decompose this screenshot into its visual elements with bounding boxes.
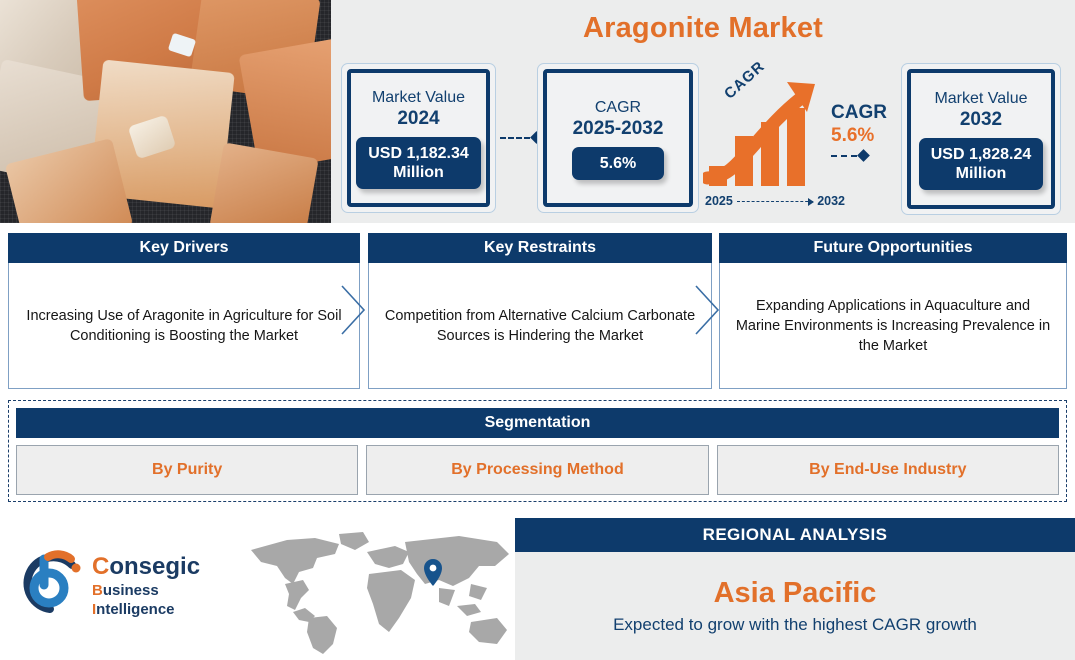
segmentation-section: Segmentation By Purity By Processing Met… — [8, 400, 1067, 502]
cagr-card-inner: CAGR 2025-2032 5.6% — [543, 69, 693, 207]
panel-key-drivers-title: Key Drivers — [8, 233, 360, 263]
cagr-period: 2025-2032 — [573, 118, 664, 139]
panel-key-drivers: Key Drivers Increasing Use of Aragonite … — [8, 233, 360, 389]
market-value-2032-label-text: Market Value — [934, 90, 1027, 107]
growth-chart-icon: CAGR CAGR 5.6% 2025 2032 — [703, 78, 888, 208]
market-value-2032-label: Market Value 2032 — [934, 88, 1027, 130]
market-value-2024-label: Market Value 2024 — [372, 87, 465, 129]
world-map-svg — [243, 532, 515, 654]
connector-2-dashes — [831, 155, 857, 157]
logo-tagline-ntelligence: ntelligence — [96, 601, 174, 618]
market-value-2024-card: Market Value 2024 USD 1,182.34 Million — [341, 63, 496, 213]
segmentation-row: By Purity By Processing Method By End-Us… — [16, 445, 1059, 495]
panel-future-opportunities: Future Opportunities Expanding Applicati… — [719, 233, 1067, 389]
market-value-2032-pill: USD 1,828.24 Million — [919, 138, 1044, 190]
regional-analysis-title: REGIONAL ANALYSIS — [515, 518, 1075, 552]
connector-2-diamond — [857, 149, 870, 162]
growth-year-axis: 2025 2032 — [705, 194, 845, 208]
market-value-2024-unit: Million — [393, 164, 444, 181]
connector-2 — [831, 151, 868, 160]
segment-by-end-use-industry[interactable]: By End-Use Industry — [717, 445, 1059, 495]
consegic-logo-icon — [14, 545, 86, 615]
growth-side-labels: CAGR 5.6% — [831, 102, 887, 147]
regional-analysis-body: Asia Pacific Expected to grow with the h… — [515, 552, 1075, 660]
logo-wordmark: Consegic Business Intelligence — [92, 553, 244, 619]
market-value-2024-card-inner: Market Value 2024 USD 1,182.34 Million — [347, 69, 490, 207]
panel-future-opportunities-title: Future Opportunities — [719, 233, 1067, 263]
logo-name-rest: onsegic — [109, 553, 200, 580]
cagr-label-text: CAGR — [595, 99, 641, 116]
logo-tagline-usiness: usiness — [103, 582, 159, 599]
segment-by-purity[interactable]: By Purity — [16, 445, 358, 495]
growth-end-year: 2032 — [817, 194, 845, 208]
company-logo: Consegic Business Intelligence — [14, 545, 244, 617]
cagr-value: 5.6% — [600, 155, 636, 172]
regional-analysis-section: REGIONAL ANALYSIS Asia Pacific Expected … — [515, 518, 1075, 660]
panel-key-restraints: Key Restraints Competition from Alternat… — [368, 233, 712, 389]
market-value-2024-year: 2024 — [372, 108, 465, 129]
market-value-2032-card-inner: Market Value 2032 USD 1,828.24 Million — [907, 69, 1055, 209]
panel-future-opportunities-text: Expanding Applications in Aquaculture an… — [719, 263, 1067, 389]
page-title: Aragonite Market — [331, 12, 1075, 45]
market-value-2032-unit: Million — [956, 165, 1007, 182]
aragonite-photo — [0, 0, 331, 223]
market-value-2032-card: Market Value 2032 USD 1,828.24 Million — [901, 63, 1061, 215]
world-map-continents — [251, 532, 509, 654]
chevron-arrow-1 — [340, 284, 366, 336]
panel-key-restraints-title: Key Restraints — [368, 233, 712, 263]
top-section: Aragonite Market Market Value 2024 USD 1… — [0, 0, 1075, 223]
market-value-2024-amount: USD 1,182.34 — [368, 145, 469, 162]
logo-company-name: Consegic — [92, 553, 244, 581]
panel-key-drivers-text: Increasing Use of Aragonite in Agricultu… — [8, 263, 360, 389]
logo-tagline-b: B — [92, 582, 103, 599]
cagr-label: CAGR 2025-2032 — [573, 97, 664, 139]
location-pin-dot — [430, 565, 437, 572]
growth-axis-arrow — [737, 201, 813, 202]
bar-4 — [787, 108, 805, 186]
market-value-2032-amount: USD 1,828.24 — [931, 146, 1032, 163]
panel-key-restraints-text: Competition from Alternative Calcium Car… — [368, 263, 712, 389]
connector-1-dashes — [500, 137, 530, 139]
connector-1 — [500, 133, 541, 142]
growth-start-year: 2025 — [705, 194, 733, 208]
regional-analysis-region: Asia Pacific — [714, 574, 877, 612]
segmentation-title: Segmentation — [16, 408, 1059, 438]
market-value-2024-label-text: Market Value — [372, 89, 465, 106]
market-value-2024-pill: USD 1,182.34 Million — [356, 137, 481, 189]
cagr-card: CAGR 2025-2032 5.6% — [537, 63, 699, 213]
logo-tagline: Business Intelligence — [92, 581, 244, 619]
market-value-2032-year: 2032 — [934, 109, 1027, 130]
logo-name-initial: C — [92, 553, 109, 580]
growth-cagr-value: 5.6% — [831, 124, 887, 147]
growth-cagr-text: CAGR — [831, 102, 887, 124]
regional-analysis-note: Expected to grow with the highest CAGR g… — [613, 612, 977, 638]
chevron-arrow-2 — [694, 284, 720, 336]
segment-by-processing-method[interactable]: By Processing Method — [366, 445, 708, 495]
cagr-pill: 5.6% — [572, 147, 664, 180]
world-map — [243, 532, 515, 654]
infographic-page: Aragonite Market Market Value 2024 USD 1… — [0, 0, 1075, 660]
